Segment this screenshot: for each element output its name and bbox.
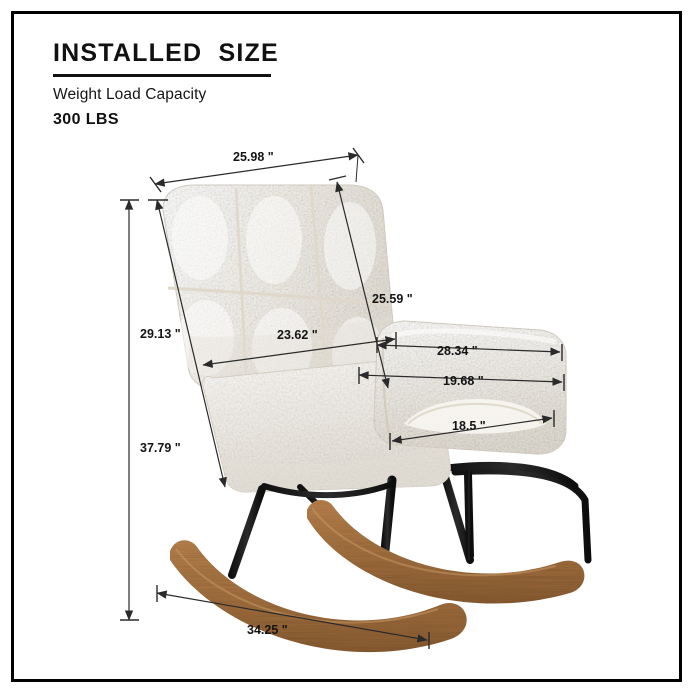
dim-label-back-width: 25.98 " (233, 150, 274, 164)
front-rocker-runner (170, 540, 467, 652)
installed-size-diagram: INSTALLED SIZE Weight Load Capacity 300 … (0, 0, 700, 700)
dim-label-seat-height: 29.13 " (140, 327, 181, 341)
dim-overall-height (120, 200, 139, 620)
dim-label-seat-front-depth: 18.5 " (452, 419, 486, 433)
chair-illustration: 25.98 " 29.13 " 37.79 " 25.59 " 23.62 " … (0, 0, 700, 700)
dim-label-overall-depth: 28.34 " (437, 344, 478, 358)
rear-rocker-runner (307, 500, 584, 604)
dim-label-seat-depth: 19.68 " (443, 374, 484, 388)
dim-label-seat-width: 23.62 " (277, 328, 318, 342)
dim-label-rocker-length: 34.25 " (247, 623, 288, 637)
dim-label-overall-height: 37.79 " (140, 441, 181, 455)
chair-graphic (163, 185, 588, 652)
dim-label-back-height: 25.59 " (372, 292, 413, 306)
